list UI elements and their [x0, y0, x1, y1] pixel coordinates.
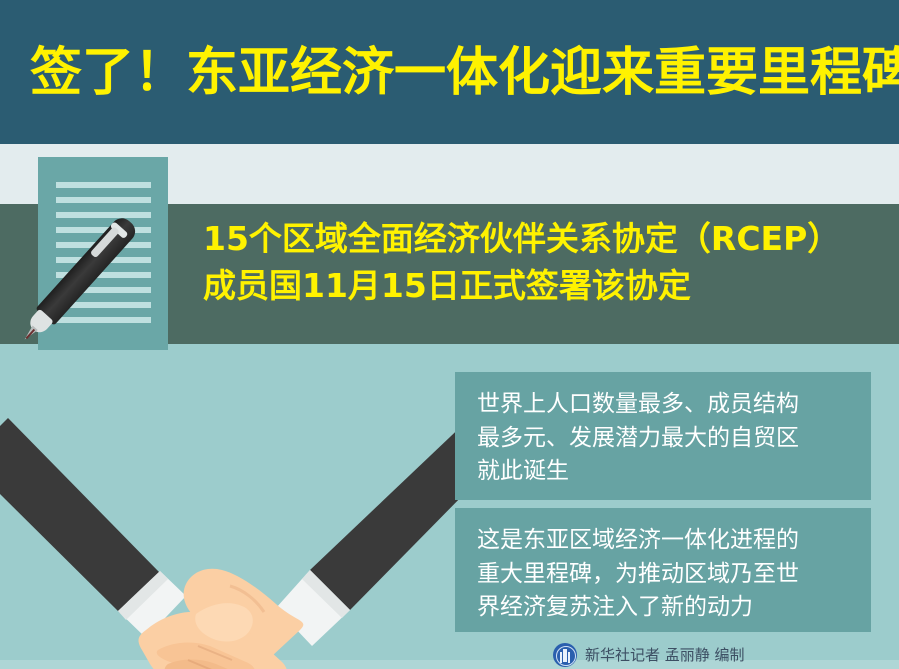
callout-2-line-3: 界经济复苏注入了新的动力	[477, 591, 851, 625]
headline-line-1: 15个区域全面经济伙伴关系协定（RCEP）	[203, 216, 893, 263]
headline-block: 15个区域全面经济伙伴关系协定（RCEP） 成员国11月15日正式签署该协定	[203, 216, 893, 310]
pen-nib-slit	[25, 328, 35, 338]
right-sleeve	[310, 418, 470, 610]
callout-2-line-2: 重大里程碑，为推动区域乃至世	[477, 558, 851, 592]
callout-free-trade-zone: 世界上人口数量最多、成员结构 最多元、发展潜力最大的自贸区 就此诞生	[455, 372, 871, 500]
document-with-pen-icon	[38, 157, 168, 350]
left-sleeve	[0, 418, 160, 613]
callout-1-line-1: 世界上人口数量最多、成员结构	[477, 388, 851, 422]
callout-1-line-3: 就此诞生	[477, 455, 851, 489]
credit-text: 新华社记者 孟丽静 编制	[585, 644, 745, 665]
credit-line: 新华社记者 孟丽静 编制	[553, 640, 899, 669]
callout-milestone: 这是东亚区域经济一体化进程的 重大里程碑，为推动区域乃至世 界经济复苏注入了新的…	[455, 508, 871, 632]
infographic-canvas: 签了！东亚经济一体化迎来重要里程碑 15个区域全面经济伙伴关系协定（RCEP） …	[0, 0, 899, 669]
callout-1-line-2: 最多元、发展潜力最大的自贸区	[477, 422, 851, 456]
handshake-icon	[0, 398, 470, 669]
callout-2-line-1: 这是东亚区域经济一体化进程的	[477, 524, 851, 558]
xinhua-logo-icon	[553, 643, 577, 667]
page-title: 签了！东亚经济一体化迎来重要里程碑	[30, 28, 875, 118]
document-line	[56, 317, 151, 323]
headline-line-2: 成员国11月15日正式签署该协定	[203, 263, 893, 310]
document-line	[56, 182, 151, 188]
document-line	[56, 197, 151, 203]
